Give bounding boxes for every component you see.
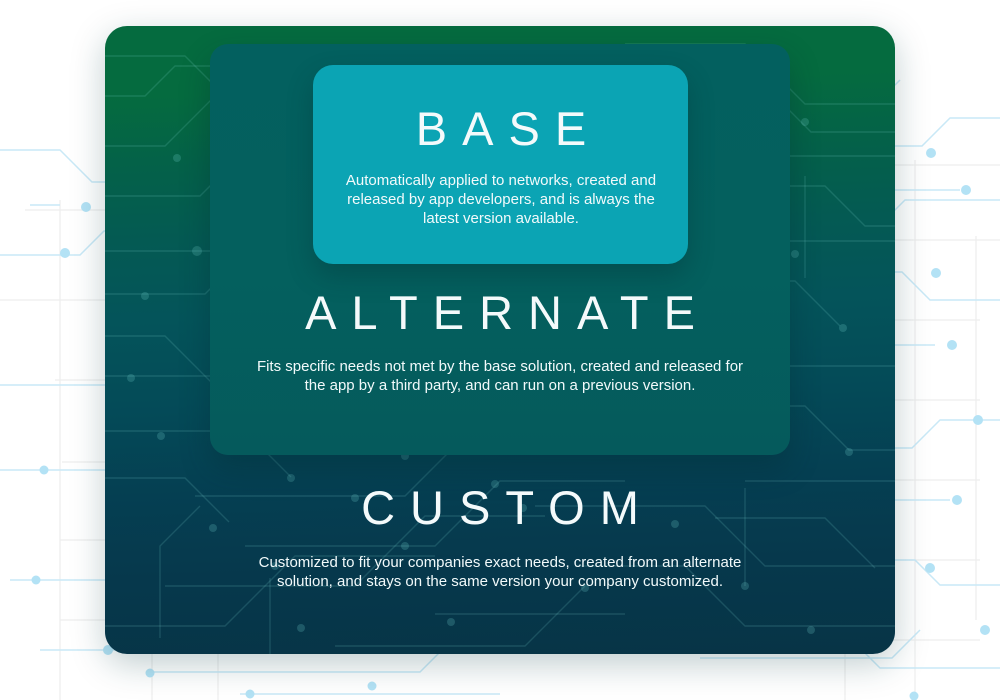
custom-tier-heading: CUSTOM [250,484,750,531]
alternate-tier-heading: ALTERNATE [245,289,755,336]
base-tier-description: Automatically applied to networks, creat… [330,171,672,228]
alternate-tier-content: ALTERNATE Fits specific needs not met by… [245,289,755,395]
base-tier-content: BASE Automatically applied to networks, … [330,105,672,228]
alternate-tier-description: Fits specific needs not met by the base … [245,357,755,395]
custom-tier-description: Customized to fit your companies exact n… [250,553,750,591]
custom-tier-content: CUSTOM Customized to fit your companies … [250,484,750,591]
base-tier-heading: BASE [330,105,672,152]
